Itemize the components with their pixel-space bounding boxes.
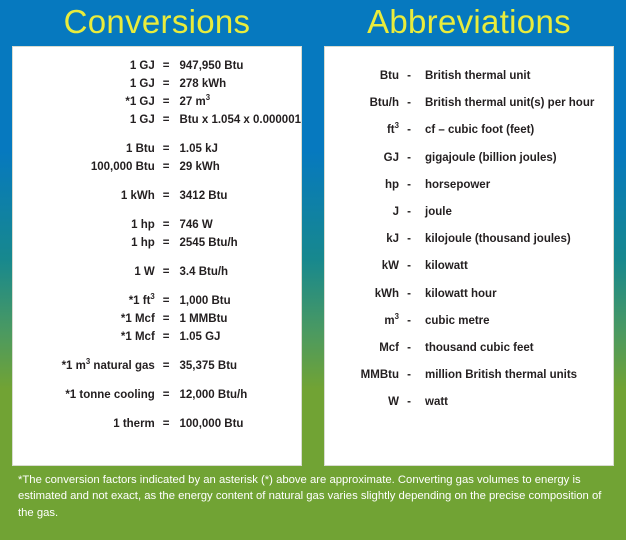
abbreviation-row: GJ-gigajoule (billion joules)	[325, 145, 613, 172]
abbreviation-definition: watt	[419, 389, 613, 416]
conversion-from: *1 Mcf	[13, 328, 160, 346]
equals-sign: =	[160, 328, 173, 346]
conversions-abbreviations-poster: Conversions 1 GJ=947,950 Btu1 GJ=278 kWh…	[0, 0, 626, 540]
abbreviation-definition: horsepower	[419, 172, 613, 199]
abbreviation-row: hp-horsepower	[325, 172, 613, 199]
equals-sign: =	[160, 415, 173, 433]
abbreviation-row: Mcf-thousand cubic feet	[325, 335, 613, 362]
conversion-to: 746 W	[173, 216, 301, 234]
conversion-from: *1 GJ	[13, 93, 160, 111]
abbreviations-panel-body: Btu-British thermal unitBtu/h-British th…	[324, 46, 614, 466]
abbreviation-term: kWh	[325, 281, 399, 308]
abbreviation-term: Btu/h	[325, 90, 399, 117]
abbreviation-row: MMBtu-million British thermal units	[325, 362, 613, 389]
conversion-to: 29 kWh	[173, 158, 301, 176]
conversion-to: 3412 Btu	[173, 187, 301, 205]
equals-sign: =	[160, 140, 173, 158]
conversion-to: 35,375 Btu	[173, 357, 301, 375]
row-spacer	[13, 205, 301, 216]
abbreviation-term: MMBtu	[325, 362, 399, 389]
abbreviation-separator: -	[399, 226, 419, 253]
abbreviation-definition: cubic metre	[419, 308, 613, 335]
conversion-to: Btu x 1.054 x 0.000001	[173, 111, 301, 129]
conversion-from: 1 GJ	[13, 111, 160, 129]
conversions-panel: Conversions 1 GJ=947,950 Btu1 GJ=278 kWh…	[12, 0, 302, 466]
conversion-row: 100,000 Btu=29 kWh	[13, 158, 301, 176]
row-spacer	[13, 129, 301, 140]
conversion-to: 947,950 Btu	[173, 57, 301, 75]
row-spacer	[13, 252, 301, 263]
equals-sign: =	[160, 357, 173, 375]
conversion-row: *1 m3 natural gas=35,375 Btu	[13, 357, 301, 375]
conversion-from: 1 therm	[13, 415, 160, 433]
abbreviation-definition: thousand cubic feet	[419, 335, 613, 362]
abbreviation-definition: kilowatt hour	[419, 281, 613, 308]
conversion-row: 1 Btu=1.05 kJ	[13, 140, 301, 158]
abbreviation-row: kJ-kilojoule (thousand joules)	[325, 226, 613, 253]
abbreviations-table: Btu-British thermal unitBtu/h-British th…	[325, 63, 613, 416]
conversion-row: *1 Mcf=1 MMBtu	[13, 310, 301, 328]
abbreviation-row: J-joule	[325, 199, 613, 226]
conversion-to: 100,000 Btu	[173, 415, 301, 433]
abbreviation-row: kW-kilowatt	[325, 253, 613, 280]
abbreviation-separator: -	[399, 253, 419, 280]
conversion-from: 100,000 Btu	[13, 158, 160, 176]
conversion-row: *1 ft3=1,000 Btu	[13, 292, 301, 310]
panel-columns: Conversions 1 GJ=947,950 Btu1 GJ=278 kWh…	[0, 0, 626, 466]
abbreviation-term: Mcf	[325, 335, 399, 362]
equals-sign: =	[160, 263, 173, 281]
abbreviation-term: m3	[325, 308, 399, 335]
equals-sign: =	[160, 216, 173, 234]
conversion-row: *1 GJ=27 m3	[13, 93, 301, 111]
abbreviation-row: W-watt	[325, 389, 613, 416]
equals-sign: =	[160, 158, 173, 176]
conversion-to: 12,000 Btu/h	[173, 386, 301, 404]
conversion-from: 1 Btu	[13, 140, 160, 158]
abbreviation-definition: kilojoule (thousand joules)	[419, 226, 613, 253]
conversion-from: 1 hp	[13, 234, 160, 252]
abbreviation-term: ft3	[325, 117, 399, 144]
equals-sign: =	[160, 187, 173, 205]
conversion-from: 1 hp	[13, 216, 160, 234]
conversion-row: 1 W=3.4 Btu/h	[13, 263, 301, 281]
abbreviation-definition: cf – cubic foot (feet)	[419, 117, 613, 144]
equals-sign: =	[160, 93, 173, 111]
conversion-from: 1 GJ	[13, 57, 160, 75]
conversions-panel-body: 1 GJ=947,950 Btu1 GJ=278 kWh*1 GJ=27 m31…	[12, 46, 302, 466]
equals-sign: =	[160, 292, 173, 310]
abbreviation-term: W	[325, 389, 399, 416]
conversion-row: 1 hp=746 W	[13, 216, 301, 234]
abbreviation-term: GJ	[325, 145, 399, 172]
conversion-to: 2545 Btu/h	[173, 234, 301, 252]
conversion-row: 1 kWh=3412 Btu	[13, 187, 301, 205]
conversion-row: 1 hp=2545 Btu/h	[13, 234, 301, 252]
row-spacer	[13, 404, 301, 415]
conversion-to: 3.4 Btu/h	[173, 263, 301, 281]
conversion-to: 1.05 kJ	[173, 140, 301, 158]
abbreviation-separator: -	[399, 172, 419, 199]
row-spacer	[13, 375, 301, 386]
abbreviation-definition: British thermal unit	[419, 63, 613, 90]
conversion-row: 1 GJ=Btu x 1.054 x 0.000001	[13, 111, 301, 129]
conversion-row: *1 tonne cooling=12,000 Btu/h	[13, 386, 301, 404]
conversion-from: *1 tonne cooling	[13, 386, 160, 404]
conversion-row: 1 GJ=947,950 Btu	[13, 57, 301, 75]
conversion-from: *1 ft3	[13, 292, 160, 310]
abbreviation-separator: -	[399, 117, 419, 144]
abbreviation-definition: joule	[419, 199, 613, 226]
abbreviation-separator: -	[399, 63, 419, 90]
conversion-to: 278 kWh	[173, 75, 301, 93]
conversion-from: 1 kWh	[13, 187, 160, 205]
equals-sign: =	[160, 57, 173, 75]
abbreviation-row: ft3-cf – cubic foot (feet)	[325, 117, 613, 144]
conversion-to: 27 m3	[173, 93, 301, 111]
abbreviation-row: kWh-kilowatt hour	[325, 281, 613, 308]
conversion-to: 1 MMBtu	[173, 310, 301, 328]
conversions-table: 1 GJ=947,950 Btu1 GJ=278 kWh*1 GJ=27 m31…	[13, 57, 301, 433]
equals-sign: =	[160, 111, 173, 129]
conversions-title: Conversions	[12, 0, 302, 46]
conversion-from: 1 W	[13, 263, 160, 281]
conversion-row: 1 GJ=278 kWh	[13, 75, 301, 93]
abbreviation-separator: -	[399, 335, 419, 362]
abbreviation-separator: -	[399, 281, 419, 308]
abbreviation-term: kJ	[325, 226, 399, 253]
equals-sign: =	[160, 75, 173, 93]
equals-sign: =	[160, 234, 173, 252]
conversion-from: 1 GJ	[13, 75, 160, 93]
abbreviation-definition: million British thermal units	[419, 362, 613, 389]
row-spacer	[13, 346, 301, 357]
abbreviation-separator: -	[399, 90, 419, 117]
abbreviation-row: Btu-British thermal unit	[325, 63, 613, 90]
abbreviation-row: m3-cubic metre	[325, 308, 613, 335]
abbreviation-separator: -	[399, 145, 419, 172]
abbreviation-definition: gigajoule (billion joules)	[419, 145, 613, 172]
conversion-from: *1 Mcf	[13, 310, 160, 328]
abbreviation-definition: kilowatt	[419, 253, 613, 280]
abbreviation-separator: -	[399, 389, 419, 416]
footnote-text: *The conversion factors indicated by an …	[0, 472, 626, 521]
abbreviation-term: kW	[325, 253, 399, 280]
conversion-row: 1 therm=100,000 Btu	[13, 415, 301, 433]
abbreviation-separator: -	[399, 308, 419, 335]
row-spacer	[13, 281, 301, 292]
abbreviation-term: J	[325, 199, 399, 226]
conversion-from: *1 m3 natural gas	[13, 357, 160, 375]
abbreviations-title: Abbreviations	[324, 0, 614, 46]
abbreviations-panel: Abbreviations Btu-British thermal unitBt…	[324, 0, 614, 466]
abbreviation-definition: British thermal unit(s) per hour	[419, 90, 613, 117]
equals-sign: =	[160, 310, 173, 328]
conversion-to: 1.05 GJ	[173, 328, 301, 346]
conversion-row: *1 Mcf=1.05 GJ	[13, 328, 301, 346]
abbreviation-row: Btu/h-British thermal unit(s) per hour	[325, 90, 613, 117]
row-spacer	[13, 176, 301, 187]
abbreviation-separator: -	[399, 362, 419, 389]
abbreviation-separator: -	[399, 199, 419, 226]
equals-sign: =	[160, 386, 173, 404]
conversion-to: 1,000 Btu	[173, 292, 301, 310]
abbreviation-term: hp	[325, 172, 399, 199]
abbreviation-term: Btu	[325, 63, 399, 90]
